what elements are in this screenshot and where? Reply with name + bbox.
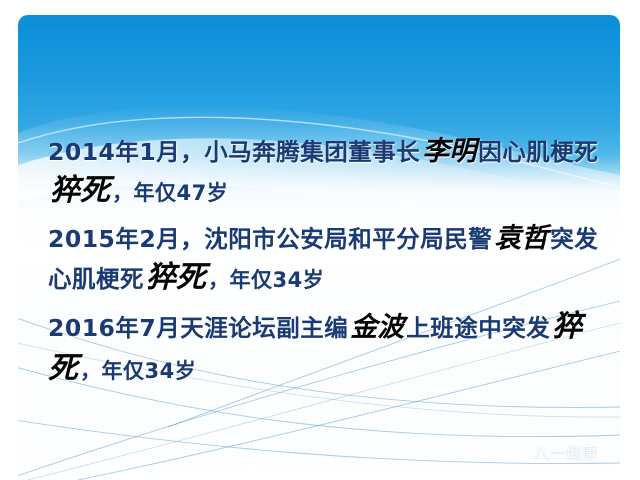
- case2-name: 袁哲: [492, 223, 550, 254]
- slide-text-block: 2014年1月，小马奔腾集团董事长李明因心肌梗死猝死，年仅47岁 2015年2月…: [18, 133, 620, 389]
- case1-keyword: 猝死: [48, 173, 112, 208]
- case1-age: ，年仅47岁: [112, 181, 228, 205]
- case1-prefix: 2014年1月，小马奔腾集团董事长: [48, 138, 420, 166]
- slide-panel: 2014年1月，小马奔腾集团董事长李明因心肌梗死猝死，年仅47岁 2015年2月…: [18, 15, 620, 480]
- case3-age: ，年仅34岁: [80, 359, 196, 383]
- wechat-icon: [505, 443, 527, 461]
- case3-prefix: 2016年7月天涯论坛副主编: [48, 314, 348, 342]
- watermark-label: 八一健康: [534, 441, 598, 462]
- case2-age: ，年仅34岁: [208, 268, 324, 292]
- case-line-3: 2016年7月天涯论坛副主编金波上班途中突发猝死，年仅34岁: [48, 306, 602, 389]
- case2-keyword: 猝死: [144, 260, 208, 295]
- case1-cause: 因心肌梗死: [478, 138, 598, 166]
- case3-name: 金波: [348, 312, 406, 343]
- case3-cause: 上班途中突发: [406, 314, 550, 342]
- case-line-1: 2014年1月，小马奔腾集团董事长李明因心肌梗死猝死，年仅47岁: [48, 133, 602, 212]
- case-line-2: 2015年2月，沈阳市公安局和平分局民警袁哲突发心肌梗死猝死，年仅34岁: [48, 220, 602, 299]
- case2-prefix: 2015年2月，沈阳市公安局和平分局民警: [48, 225, 492, 253]
- watermark: 八一健康: [505, 441, 598, 462]
- case1-name: 李明: [420, 136, 478, 167]
- slide-screenshot: 2014年1月，小马奔腾集团董事长李明因心肌梗死猝死，年仅47岁 2015年2月…: [0, 0, 640, 480]
